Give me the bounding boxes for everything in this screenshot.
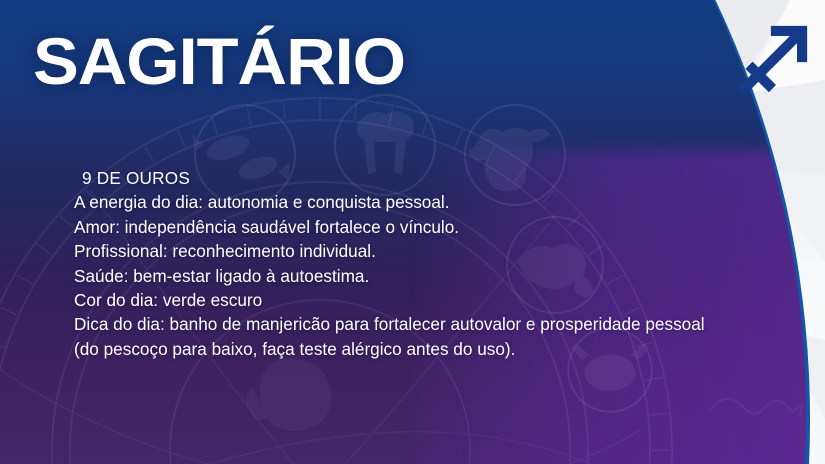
reading-line-professional: Profissional: reconhecimento individual. <box>74 239 734 263</box>
reading-line-health: Saúde: bem-estar ligado à autoestima. <box>74 264 734 288</box>
reading-line-energy: A energia do dia: autonomia e conquista … <box>74 190 734 214</box>
medallion-scorpio <box>700 350 806 460</box>
page-title: SAGITÁRIO <box>33 28 405 94</box>
reading-line-tip: Dica do dia: banho de manjericão para fo… <box>74 312 734 361</box>
horoscope-card: SAGITÁRIO 9 DE OUROS A energia do dia: a… <box>0 0 825 464</box>
sagittarius-icon <box>735 20 813 98</box>
reading-line-love: Amor: independência saudável fortalece o… <box>74 215 734 239</box>
reading-line-color: Cor do dia: verde escuro <box>74 288 734 312</box>
horoscope-text: 9 DE OUROS A energia do dia: autonomia e… <box>74 166 734 361</box>
tarot-card-label: 9 DE OUROS <box>74 166 734 190</box>
